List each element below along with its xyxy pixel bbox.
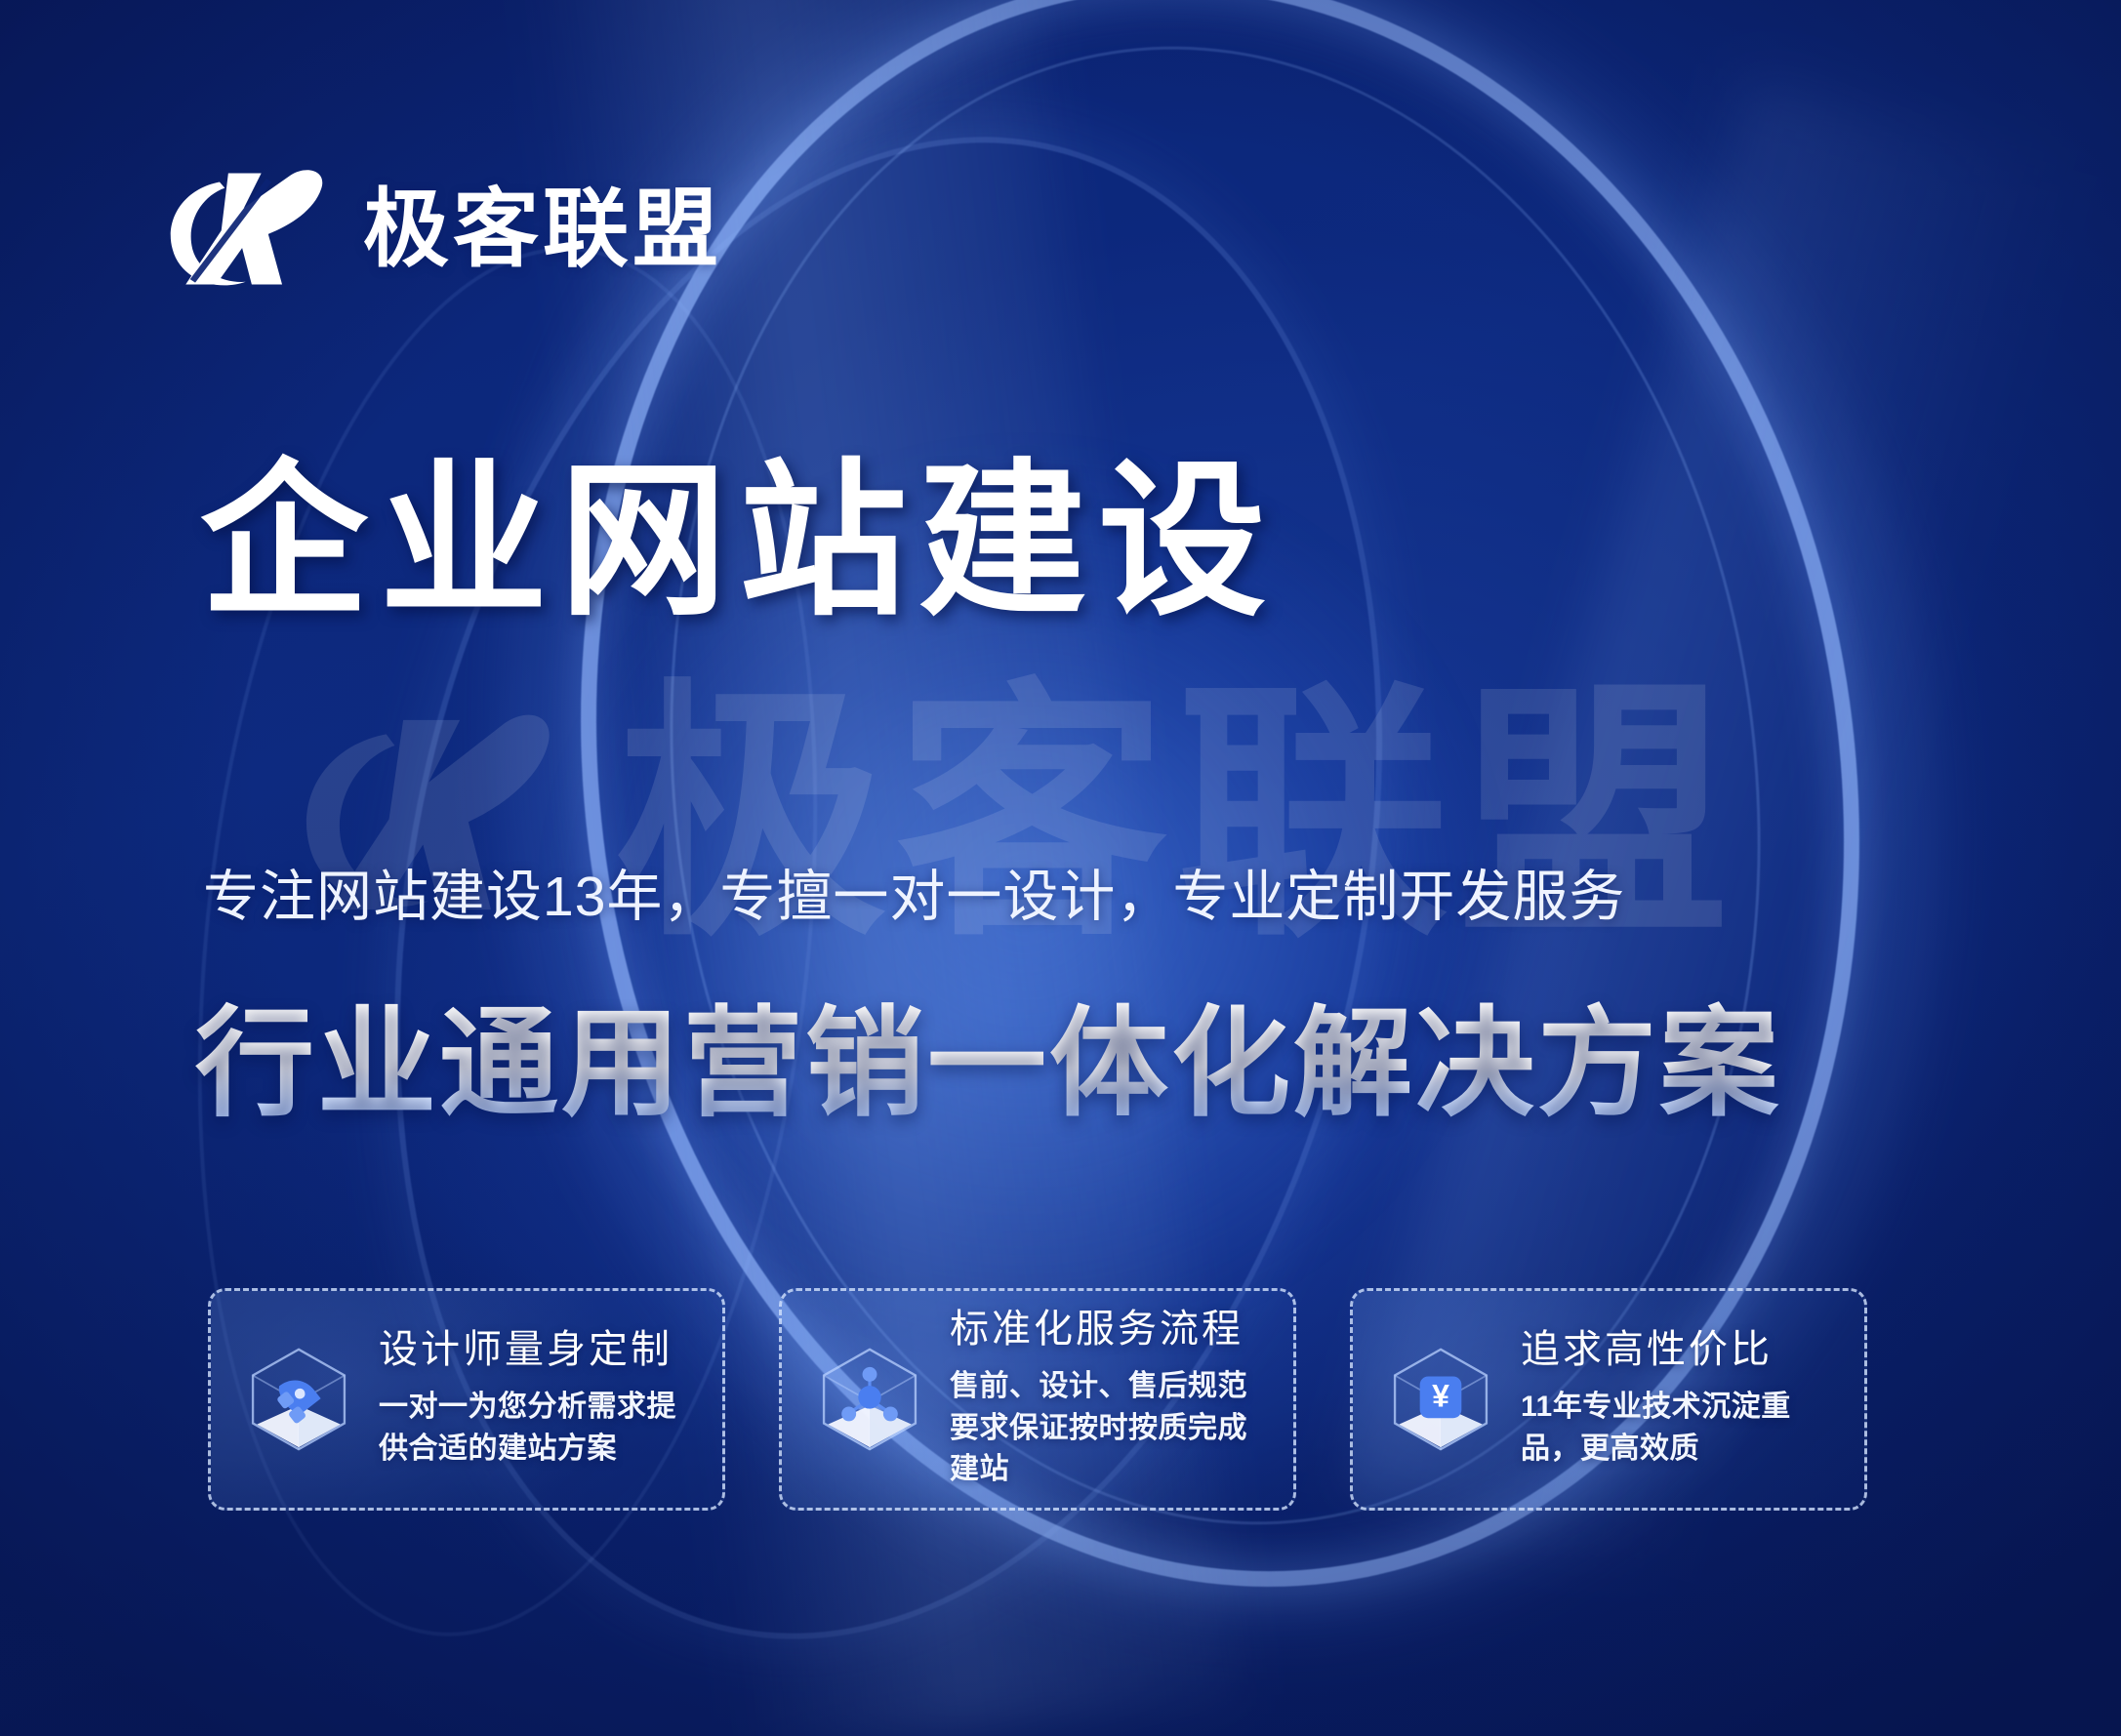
card-body: 设计师量身定制 一对一为您分析需求提供合适的建站方案 <box>379 1328 701 1470</box>
card-title: 追求高性价比 <box>1521 1328 1843 1371</box>
cube-network-icon <box>807 1337 932 1462</box>
feature-card[interactable]: 设计师量身定制 一对一为您分析需求提供合适的建站方案 <box>208 1288 725 1511</box>
banner-canvas: 极客联盟 极客联盟 企业网站建设 专注网站建设13年，专擅一对一设计，专业定制开… <box>0 0 2121 1736</box>
gk-monogram-icon <box>164 168 338 290</box>
brand-name: 极客联盟 <box>363 186 722 272</box>
card-description: 一对一为您分析需求提供合适的建站方案 <box>379 1387 701 1470</box>
card-description: 售前、设计、售后规范要求保证按时按质完成建站 <box>950 1366 1272 1491</box>
cube-rocket-icon <box>236 1337 361 1462</box>
brand-logo[interactable]: 极客联盟 <box>164 168 722 290</box>
hero-headline: 行业通用营销一体化解决方案 <box>195 995 1781 1134</box>
page-title: 企业网站建设 <box>200 454 1278 635</box>
card-body: 标准化服务流程 售前、设计、售后规范要求保证按时按质完成建站 <box>950 1308 1272 1491</box>
feature-card[interactable]: ¥ 追求高性价比 11年专业技术沉淀重品，更高效质 <box>1350 1288 1867 1511</box>
feature-card[interactable]: 标准化服务流程 售前、设计、售后规范要求保证按时按质完成建站 <box>779 1288 1296 1511</box>
card-title: 标准化服务流程 <box>950 1308 1272 1351</box>
cube-yuan-icon: ¥ <box>1378 1337 1503 1462</box>
card-title: 设计师量身定制 <box>379 1328 701 1371</box>
feature-card-list: 设计师量身定制 一对一为您分析需求提供合适的建站方案 标准化服务流程 售前、设计… <box>208 1288 1867 1511</box>
svg-text:¥: ¥ <box>1432 1378 1449 1413</box>
hero-subtitle: 专注网站建设13年，专擅一对一设计，专业定制开发服务 <box>203 863 1625 932</box>
card-body: 追求高性价比 11年专业技术沉淀重品，更高效质 <box>1521 1328 1843 1470</box>
card-description: 11年专业技术沉淀重品，更高效质 <box>1521 1387 1843 1470</box>
